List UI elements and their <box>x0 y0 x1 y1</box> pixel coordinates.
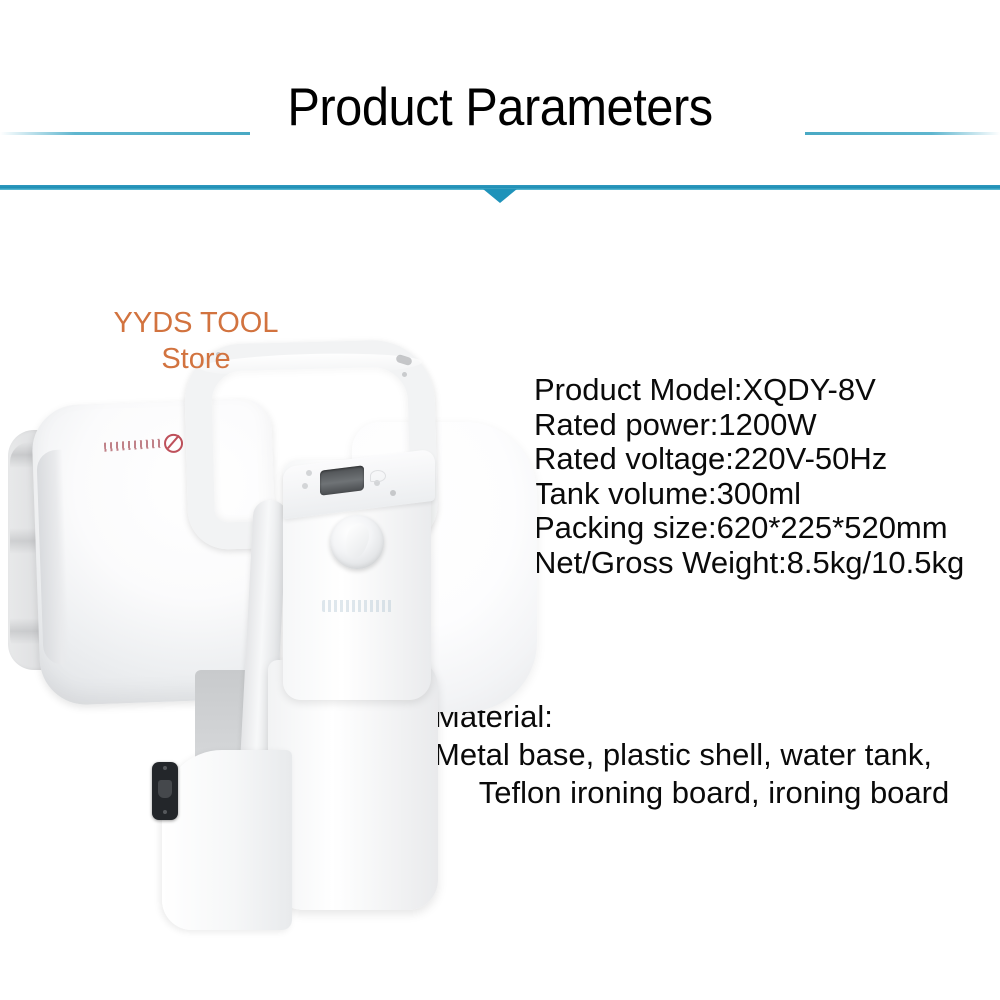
spec-packing-size: Packing size:620*225*520mm <box>534 511 1000 546</box>
header-banner: Product Parameters <box>0 0 1000 210</box>
brand-logo <box>322 600 394 612</box>
power-inlet-socket <box>152 762 178 820</box>
chevron-down-icon <box>483 189 517 203</box>
spec-rated-voltage: Rated voltage:220V-50Hz <box>534 442 1000 477</box>
rotary-knob <box>330 515 384 569</box>
specifications-list: Product Model:XQDY-8V Rated power:1200W … <box>534 373 1000 580</box>
handle-screw-left <box>216 352 221 357</box>
panel-button-1 <box>306 470 312 476</box>
spec-tank-volume: Tank volume:300ml <box>534 477 1000 512</box>
product-image <box>0 330 540 940</box>
panel-button-4 <box>390 490 396 496</box>
panel-button-2 <box>302 483 308 489</box>
handle-screw-right <box>402 372 407 377</box>
spec-net-gross-weight: Net/Gross Weight:8.5kg/10.5kg <box>534 546 1000 581</box>
body-front-curve <box>162 750 292 930</box>
steam-icon <box>370 470 386 482</box>
page-title: Product Parameters <box>40 78 960 138</box>
spec-rated-power: Rated power:1200W <box>534 408 1000 443</box>
product-parameters-page: Product Parameters <box>0 0 1000 1000</box>
warning-label-text-bars <box>104 439 162 452</box>
spec-product-model: Product Model:XQDY-8V <box>534 373 1000 408</box>
